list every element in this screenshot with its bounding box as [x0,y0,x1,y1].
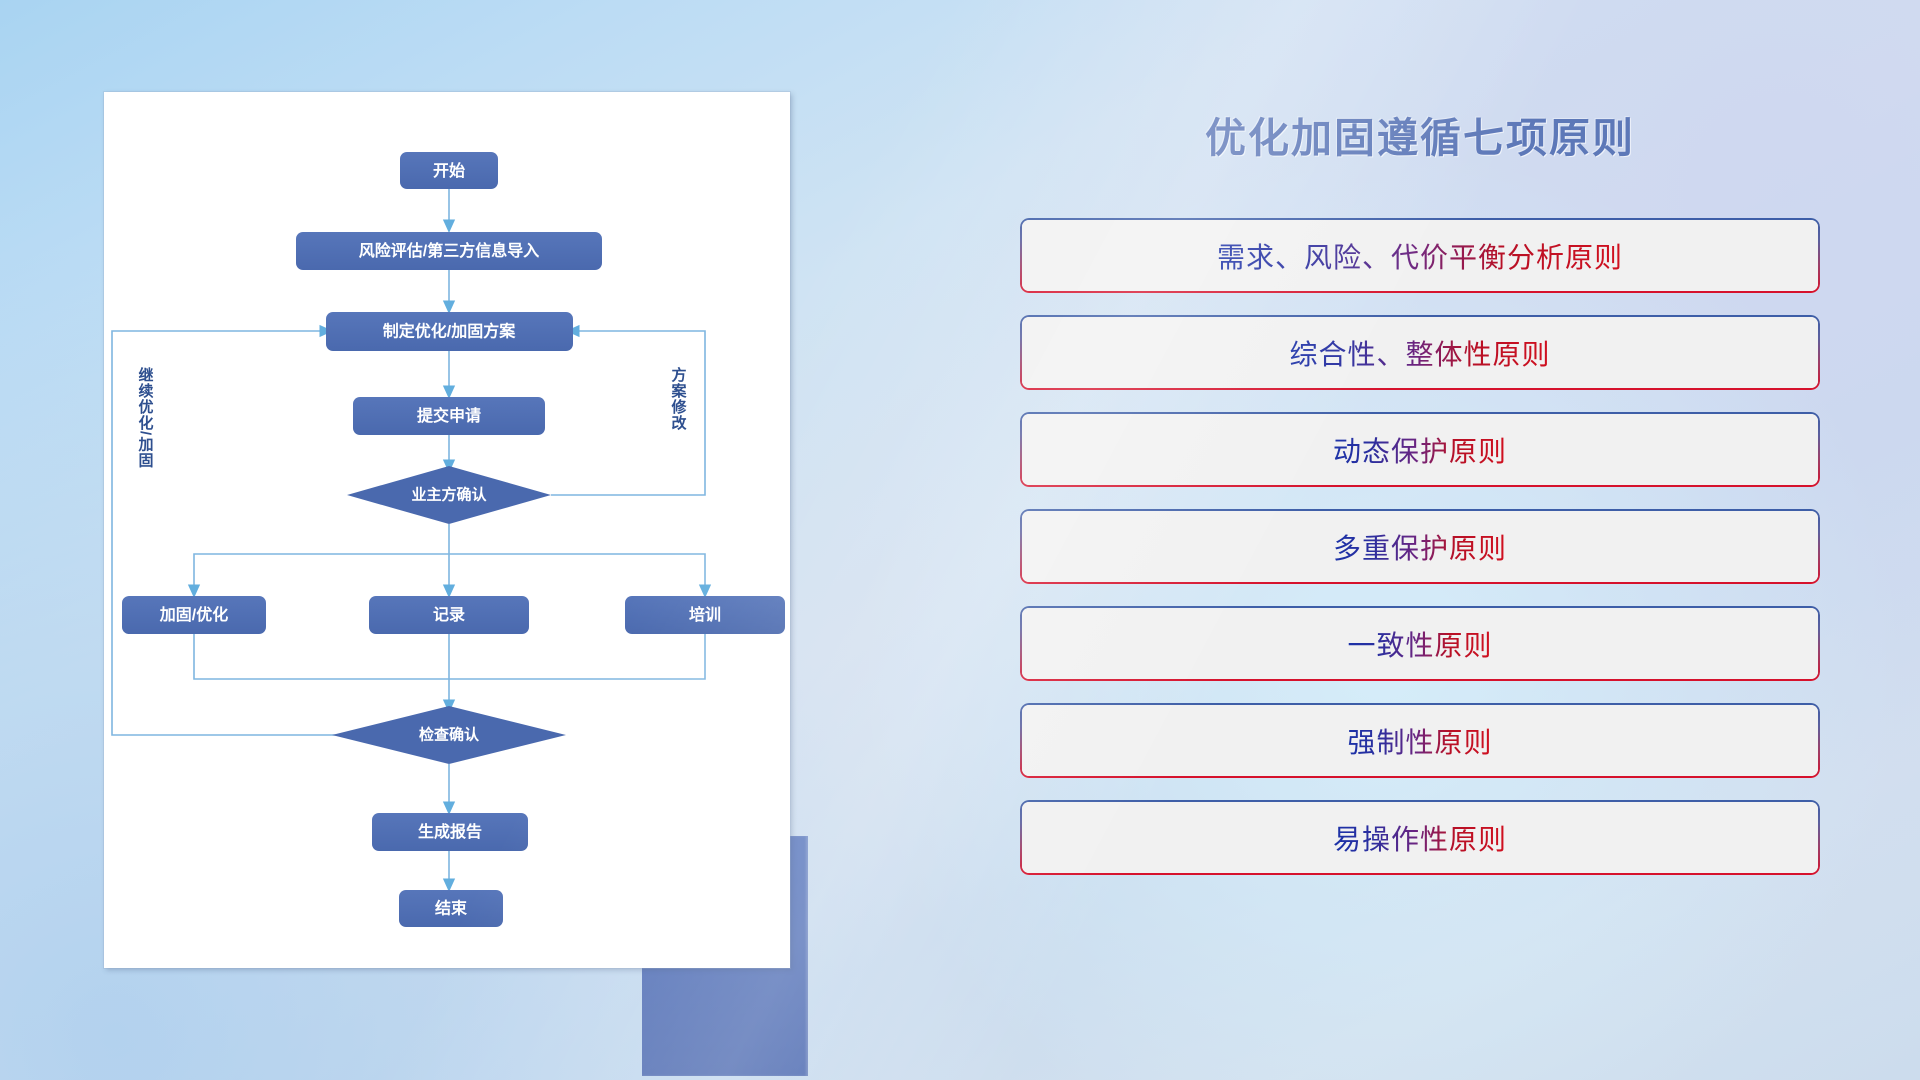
node-risk-assessment-label: 风险评估/第三方信息导入 [359,241,539,260]
node-end-label: 结束 [434,899,468,918]
principle-card-6[interactable]: 强制性原则 [1020,703,1820,778]
node-check-confirm[interactable]: 检查确认 [332,706,566,764]
principle-card-1-label: 需求、风险、代价平衡分析原则 [1217,236,1623,276]
node-record-label: 记录 [433,606,465,624]
principle-card-2-inner: 综合性、整体性原则 [1022,317,1818,388]
node-plan[interactable]: 制定优化/加固方案 [326,312,573,351]
node-record[interactable]: 记录 [369,596,529,634]
principle-card-4-label: 多重保护原则 [1333,527,1507,567]
node-reinforce[interactable]: 加固/优化 [122,596,266,634]
principle-card-4[interactable]: 多重保护原则 [1020,509,1820,584]
edge-owner-reinforce [194,554,449,591]
node-start-label: 开始 [433,161,465,180]
principle-card-5-inner: 一致性原则 [1022,608,1818,679]
node-submit-label: 提交申请 [417,406,481,425]
flowchart-panel: 开始 风险评估/第三方信息导入 制定优化/加固方案 提交申请 业主方确认 [104,92,790,968]
node-plan-label: 制定优化/加固方案 [383,322,516,341]
principle-card-4-inner: 多重保护原则 [1022,511,1818,582]
node-report-label: 生成报告 [418,822,482,841]
node-end[interactable]: 结束 [399,890,503,927]
principle-card-6-label: 强制性原则 [1347,721,1492,761]
principle-card-2[interactable]: 综合性、整体性原则 [1020,315,1820,390]
principle-card-7-label: 易操作性原则 [1333,818,1507,858]
flowchart-card: 开始 风险评估/第三方信息导入 制定优化/加固方案 提交申请 业主方确认 [104,92,790,968]
node-submit[interactable]: 提交申请 [353,397,545,435]
edge-label-continue-optimize: 继续优化/加固 [137,366,155,468]
edge-label-plan-revision: 方案修改 [670,366,688,431]
node-risk-assessment[interactable]: 风险评估/第三方信息导入 [296,232,602,270]
principles-title: 优化加固遵循七项原则 [1020,104,1820,164]
node-owner-confirm-label: 业主方确认 [411,486,487,504]
node-train-label: 培训 [689,605,721,624]
principle-card-7-inner: 易操作性原则 [1022,802,1818,873]
principles-card-list: 需求、风险、代价平衡分析原则 综合性、整体性原则 动态保护原则 多重保护原则 [1020,218,1820,875]
node-report[interactable]: 生成报告 [372,813,528,851]
node-owner-confirm[interactable]: 业主方确认 [347,466,551,524]
slide-canvas: 开始 风险评估/第三方信息导入 制定优化/加固方案 提交申请 业主方确认 [0,0,1920,1080]
principle-card-1-inner: 需求、风险、代价平衡分析原则 [1022,220,1818,291]
principle-card-3[interactable]: 动态保护原则 [1020,412,1820,487]
node-reinforce-label: 加固/优化 [159,605,228,624]
principle-card-2-label: 综合性、整体性原则 [1289,333,1550,373]
node-start[interactable]: 开始 [400,152,498,189]
principle-card-7[interactable]: 易操作性原则 [1020,800,1820,875]
principles-panel: 优化加固遵循七项原则 需求、风险、代价平衡分析原则 综合性、整体性原则 动态保护… [1020,104,1820,1004]
edge-owner-train [449,554,705,591]
principle-card-5[interactable]: 一致性原则 [1020,606,1820,681]
node-train[interactable]: 培训 [625,596,785,634]
principle-card-1[interactable]: 需求、风险、代价平衡分析原则 [1020,218,1820,293]
principle-card-3-inner: 动态保护原则 [1022,414,1818,485]
flowchart-svg: 开始 风险评估/第三方信息导入 制定优化/加固方案 提交申请 业主方确认 [104,92,790,968]
principle-card-5-label: 一致性原则 [1347,624,1492,664]
principle-card-6-inner: 强制性原则 [1022,705,1818,776]
node-check-confirm-label: 检查确认 [419,726,480,744]
principle-card-3-label: 动态保护原则 [1333,430,1507,470]
